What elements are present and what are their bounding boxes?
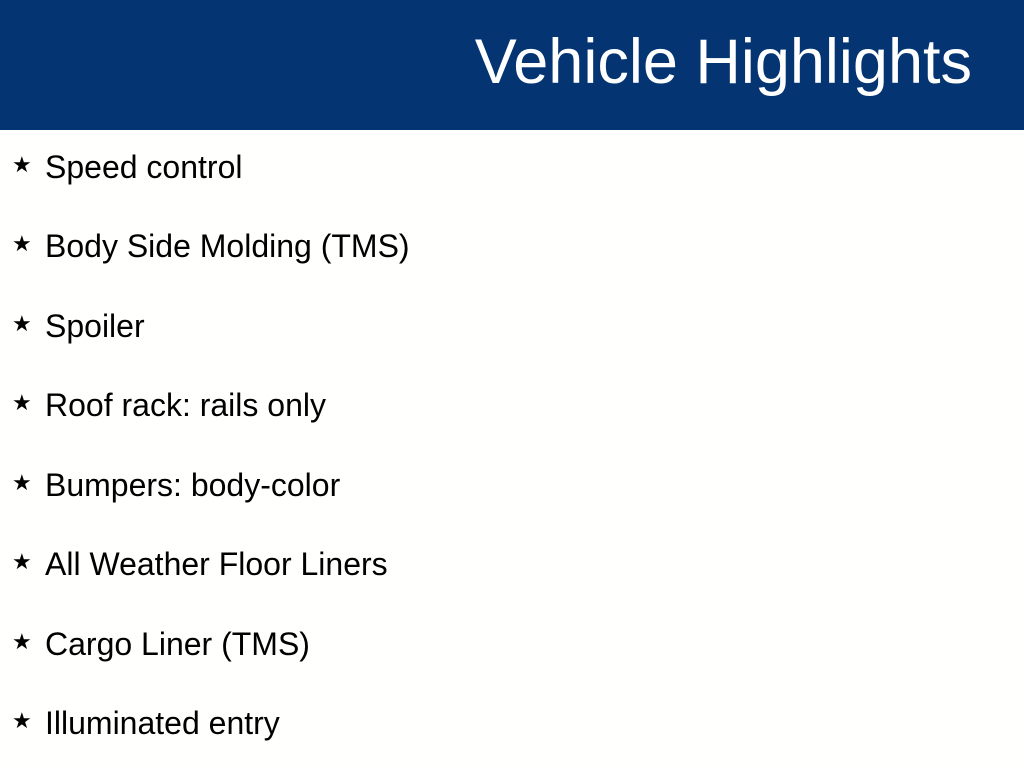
list-item: ★ Speed control (12, 147, 242, 187)
star-bullet-icon: ★ (12, 473, 30, 495)
list-item: ★ All Weather Floor Liners (12, 544, 388, 584)
list-item-label: Roof rack: rails only (45, 389, 326, 421)
list-item: ★ Roof rack: rails only (12, 385, 326, 425)
slide-canvas: Vehicle Highlights ★ Speed control ★ Bod… (0, 0, 1024, 768)
list-item-label: Spoiler (45, 310, 145, 342)
list-item-label: Cargo Liner (TMS) (45, 628, 310, 660)
star-bullet-icon: ★ (12, 314, 30, 336)
title-banner: Vehicle Highlights (0, 0, 1024, 130)
list-item: ★ Cargo Liner (TMS) (12, 624, 310, 664)
star-bullet-icon: ★ (12, 234, 30, 256)
list-item-label: Illuminated entry (45, 707, 280, 739)
list-item: ★ Body Side Molding (TMS) (12, 226, 410, 266)
star-bullet-icon: ★ (12, 632, 30, 654)
list-item: ★ Illuminated entry (12, 703, 280, 743)
star-bullet-icon: ★ (12, 393, 30, 415)
list-item: ★ Bumpers: body-color (12, 465, 340, 505)
star-bullet-icon: ★ (12, 552, 30, 574)
vehicle-highlights-list: ★ Speed control ★ Body Side Molding (TMS… (0, 130, 1024, 768)
star-bullet-icon: ★ (12, 711, 30, 733)
list-item-label: Bumpers: body-color (45, 469, 340, 501)
list-item-label: Body Side Molding (TMS) (45, 230, 410, 262)
star-bullet-icon: ★ (12, 155, 30, 177)
page-title: Vehicle Highlights (475, 31, 972, 94)
list-item-label: All Weather Floor Liners (45, 548, 388, 580)
list-item: ★ Spoiler (12, 306, 145, 346)
list-item-label: Speed control (45, 151, 242, 183)
